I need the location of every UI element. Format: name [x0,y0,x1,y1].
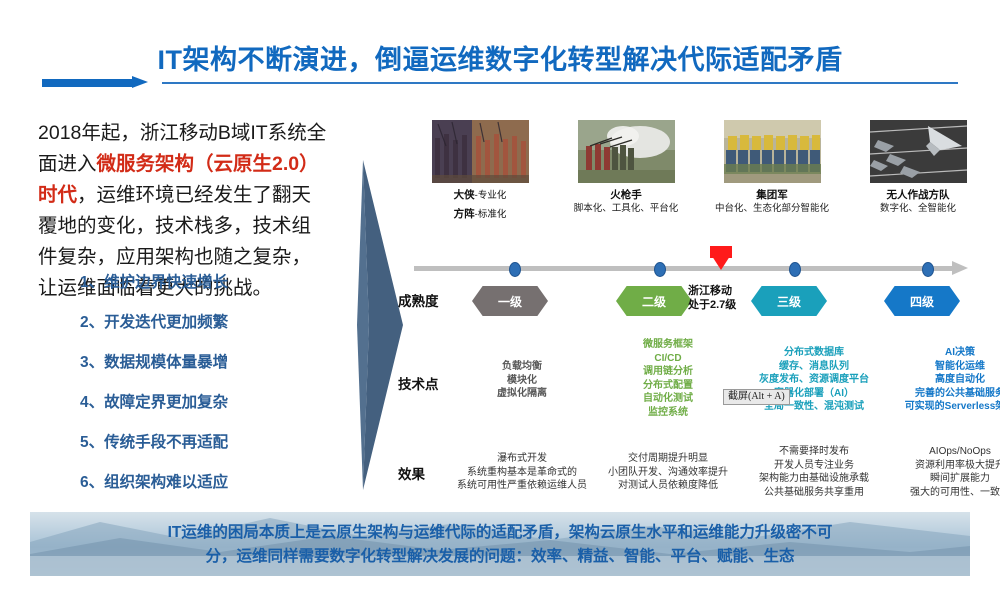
title-underline-decoration [42,78,958,88]
tech-point-line: 高度自动化 [870,373,1000,387]
status-badge: 四级 [884,286,960,316]
summary-banner: IT运维的困局本质上是云原生架构与运维代际的适配矛盾，架构云原生水平和运维能力升… [30,512,970,576]
stage-caption-title: 集团军 [710,189,834,202]
ancient-phalanx-battle-photo [432,120,529,183]
list-item: 6、组织架构难以适应 [80,473,330,492]
unmanned-combat-formation-photo [870,120,967,183]
timeline-dot [654,262,666,277]
effects-stage-4: AIOps/NoOps资源利用率极大提升瞬间扩展能力强大的可用性、一致性 [870,445,1000,499]
stage-card: 火枪手 脚本化、工具化、平台化 [564,120,688,215]
title-underline-bar [42,79,134,87]
challenge-list: 1、维护边界快速增长 2、开发迭代更加频繁 3、数据规模体量暴增 4、故障定界更… [80,273,330,513]
stage-caption-title-2: 方阵-标准化 [418,208,542,221]
current-position-note-line2: 处于2.7级 [688,298,736,312]
stage-cards: 大侠-专业化 方阵-标准化 [418,120,980,238]
stage-caption-title: 火枪手 [564,189,688,202]
status-badge: 一级 [472,286,548,316]
stage-caption-subtitle: 中台化、生态化部分智能化 [710,202,834,215]
status-badge: 二级 [616,286,692,316]
stage-caption-title: 大侠-专业化 [418,189,542,202]
current-position-marker-icon [710,253,732,270]
stage-caption-rest-2: -标准化 [475,209,507,220]
stage-caption-subtitle: 脚本化、工具化、平台化 [564,202,688,215]
effect-line: 瞬间扩展能力 [870,472,1000,486]
stage-caption-rest: -专业化 [475,190,507,201]
summary-banner-line1: IT运维的困局本质上是云原生架构与运维代际的适配矛盾，架构云原生水平和运维能力升… [30,521,970,545]
title-underline-thin [162,82,958,84]
stage-caption-bold-2: 方阵 [454,208,475,220]
maturity-timeline [414,262,970,274]
row-label-effect: 效果 [398,463,425,483]
status-badge: 三级 [751,286,827,316]
list-item: 2、开发迭代更加频繁 [80,313,330,332]
current-position-note-line1: 浙江移动 [688,284,736,298]
timeline-dot [509,262,521,277]
list-item: 5、传统手段不再适配 [80,433,330,452]
title-underline-arrowhead-icon [132,76,148,88]
list-item: 4、故障定界更加复杂 [80,393,330,412]
army-group-parade-photo [724,120,821,183]
list-item: 1、维护边界快速增长 [80,273,330,292]
timeline-dot [922,262,934,277]
timeline-arrowhead-icon [952,261,968,275]
timeline-dot [789,262,801,277]
tech-point-line: AI决策 [870,346,1000,360]
summary-banner-text: IT运维的困局本质上是云原生架构与运维代际的适配矛盾，架构云原生水平和运维能力升… [30,521,970,569]
slide-root: IT架构不断演进，倒逼运维数字化转型解决代际适配矛盾 2018年起，浙江移动B域… [0,0,1000,600]
effect-line: 强大的可用性、一致性 [870,486,1000,500]
page-title-container: IT架构不断演进，倒逼运维数字化转型解决代际适配矛盾 [0,38,1000,77]
stage-card: 大侠-专业化 方阵-标准化 [418,120,542,221]
maturity-matrix: 大侠-专业化 方阵-标准化 [400,120,980,510]
timeline-bar [414,266,954,271]
effect-line: 资源利用率极大提升 [870,459,1000,473]
tech-point-line: 智能化运维 [870,360,1000,374]
effect-line: AIOps/NoOps [870,445,1000,459]
stage-card: 集团军 中台化、生态化部分智能化 [710,120,834,215]
stage-caption-subtitle: 数字化、全智能化 [856,202,980,215]
tech-points-stage-4: AI决策智能化运维高度自动化完善的公共基础服务可实现的Serverless架构 [870,346,1000,414]
page-title: IT架构不断演进，倒逼运维数字化转型解决代际适配矛盾 [0,38,1000,77]
screenshot-tooltip: 截屏(Alt + A) [723,389,790,405]
tech-point-line: 可实现的Serverless架构 [870,400,1000,414]
stage-caption-title: 无人作战方队 [856,189,980,202]
summary-banner-line2: 分，运维同样需要数字化转型解决发展的问题：效率、精益、智能、平台、赋能、生态 [30,545,970,569]
list-item: 3、数据规模体量暴增 [80,353,330,372]
stage-caption-bold: 大侠 [454,189,475,201]
musketeer-line-infantry-photo [578,120,675,183]
stage-card: 无人作战方队 数字化、全智能化 [856,120,980,215]
current-position-note: 浙江移动 处于2.7级 [688,284,736,312]
tech-point-line: 完善的公共基础服务 [870,387,1000,401]
